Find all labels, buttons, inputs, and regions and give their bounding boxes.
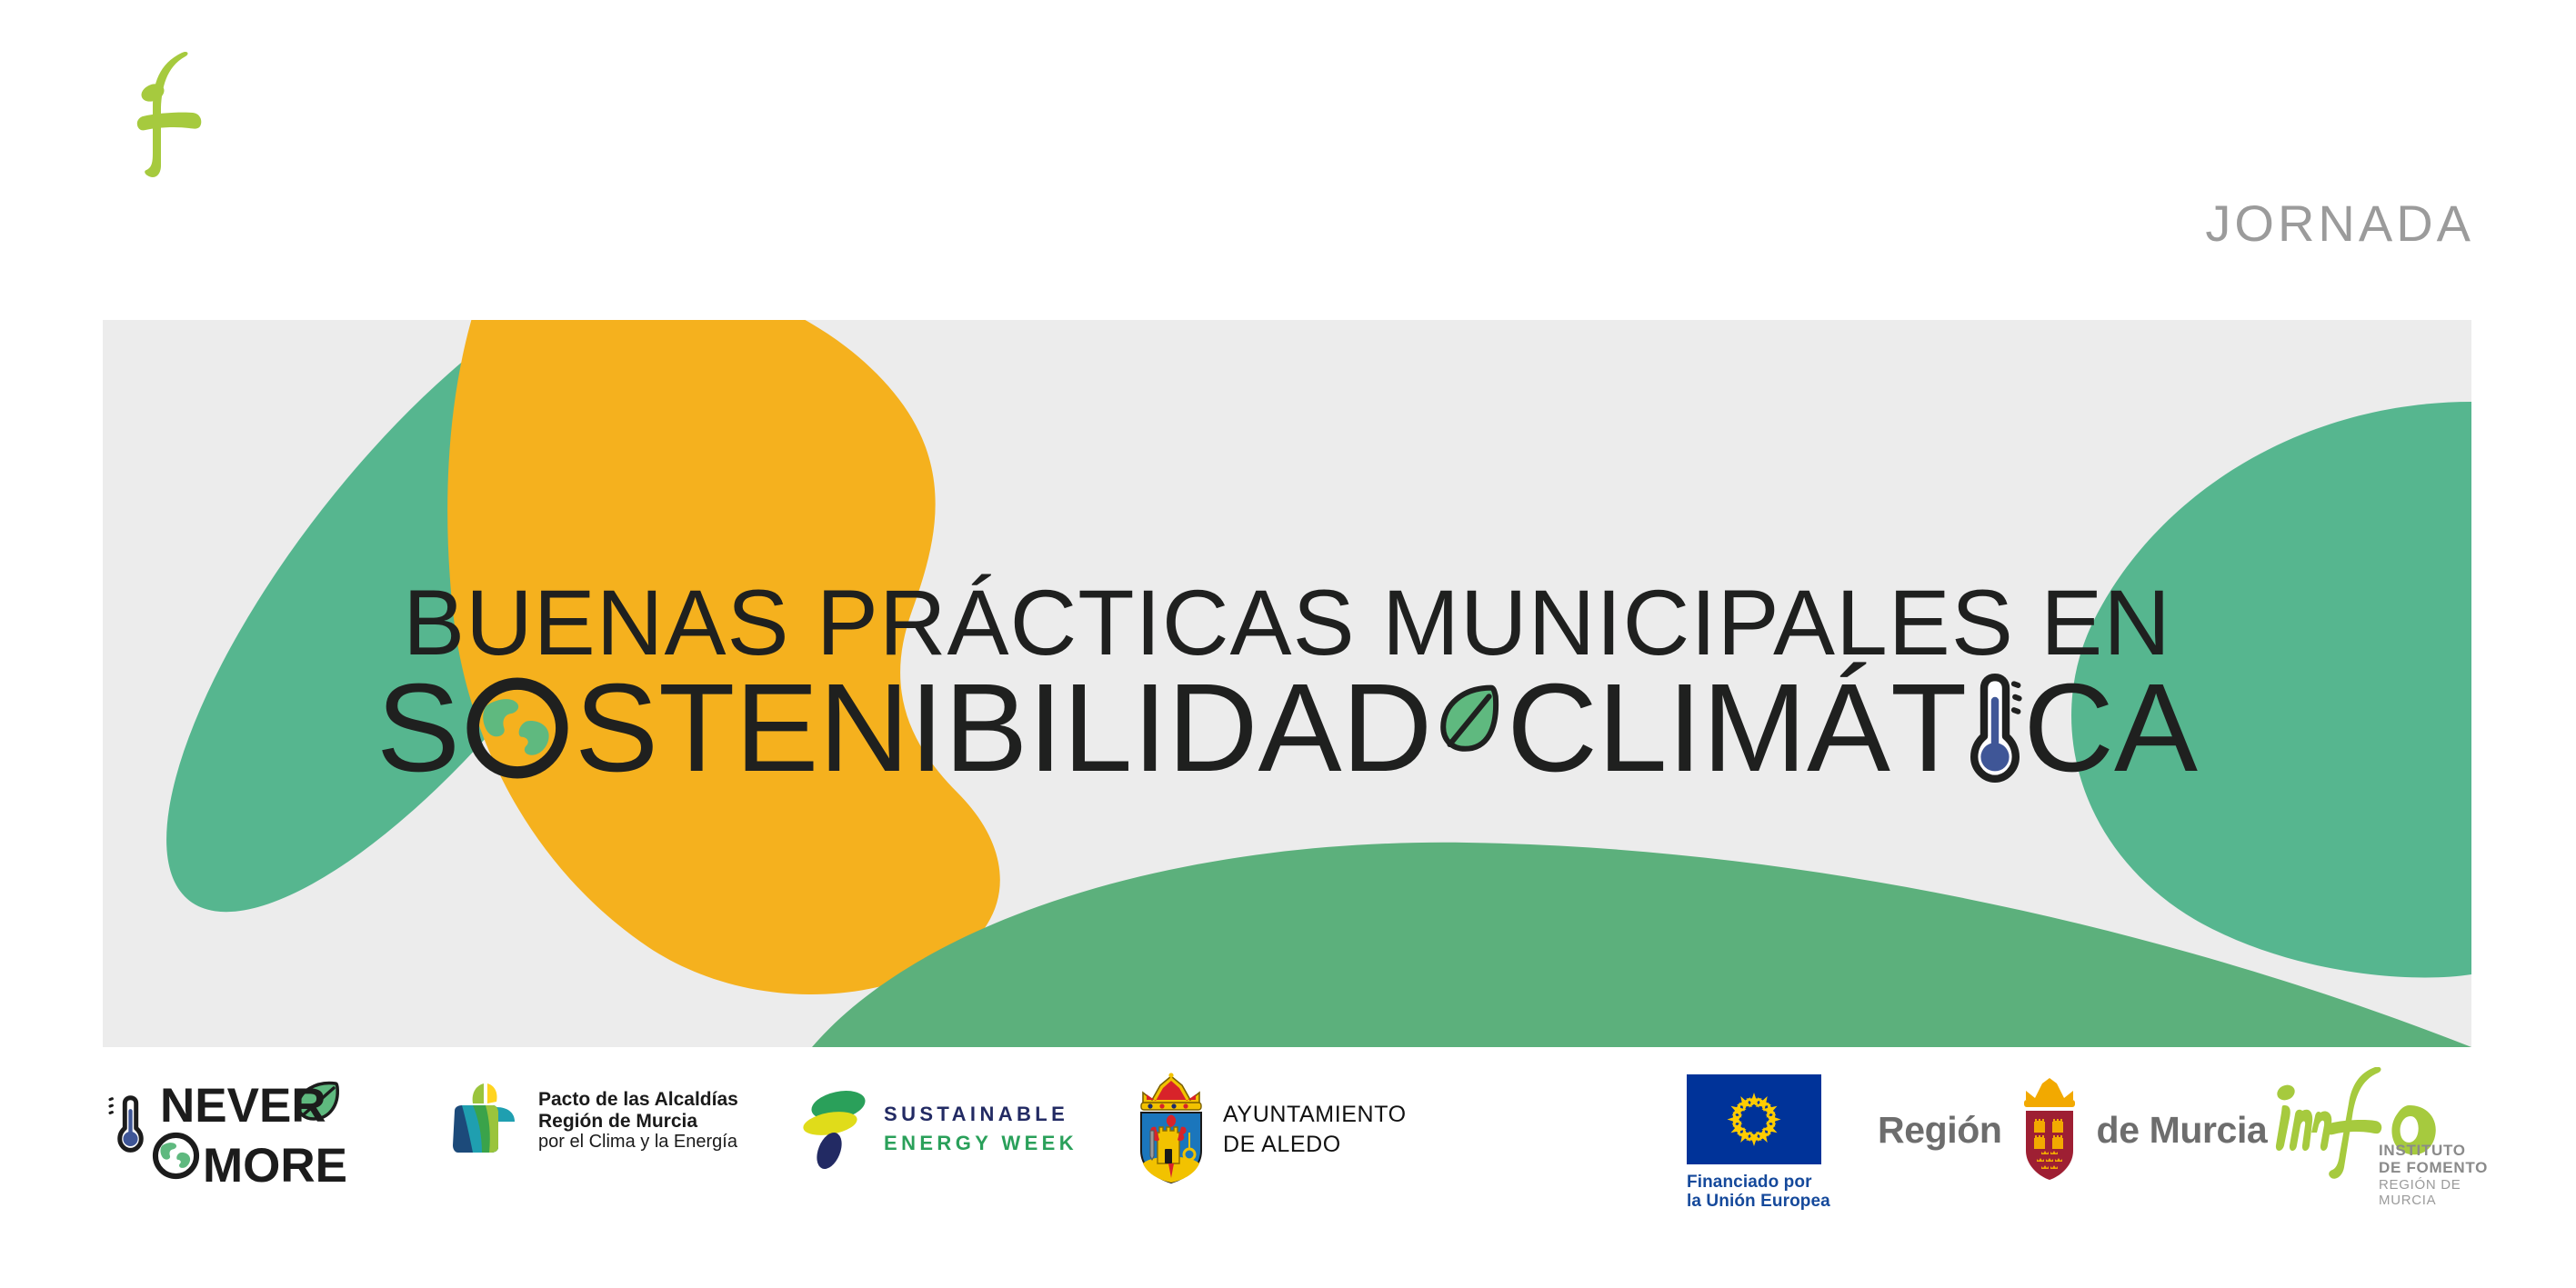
sew-line-1: SUSTAINABLE <box>884 1103 1078 1126</box>
murcia-text-left: Región <box>1878 1109 2002 1152</box>
globe-icon <box>460 673 575 784</box>
title-line2-part-4: CA <box>2023 664 2198 793</box>
info-line-1: INSTITUTO DE FOMENTO <box>2379 1142 2491 1176</box>
title-line2-part-1: S <box>376 664 460 793</box>
pacto-de-las-alcaldias-logo: Pacto de las Alcaldías Región de Murcia … <box>446 1080 738 1162</box>
sew-line-2: ENERGY WEEK <box>884 1133 1078 1155</box>
pacto-line-2: Región de Murcia <box>538 1111 738 1133</box>
info-line-2: REGIÓN DE MURCIA <box>2379 1178 2491 1209</box>
aledo-line-2: DE ALEDO <box>1223 1132 1407 1157</box>
hero-title-block: BUENAS PRÁCTICAS MUNICIPALES EN S STENIB… <box>103 320 2471 1047</box>
info-f-logo <box>98 47 253 179</box>
pacto-line-1: Pacto de las Alcaldías <box>538 1089 738 1111</box>
header: JORNADA <box>0 0 2576 320</box>
pacto-line-3: por el Clima y la Energía <box>538 1132 738 1152</box>
financiado-por-la-union-europea-logo: Financiado por la Unión Europea <box>1687 1074 1830 1212</box>
pacto-mark-icon <box>446 1080 527 1162</box>
nevermore-logo: NEVER MORE <box>107 1074 353 1202</box>
info-instituto-de-fomento-logo: INSTITUTO DE FOMENTO REGIÓN DE MURCIA <box>2264 1067 2491 1185</box>
murcia-shield-icon <box>2013 1076 2086 1183</box>
title-line2-part-2: STENIBILIDAD <box>575 664 1432 793</box>
nevermore-line-1: NEVER <box>160 1079 326 1133</box>
hero-panel: BUENAS PRÁCTICAS MUNICIPALES EN S STENIB… <box>103 320 2471 1047</box>
title-line-2: S STENIBILIDAD CLIMÁT <box>376 664 2198 793</box>
title-line-1: BUENAS PRÁCTICAS MUNICIPALES EN <box>403 575 2171 670</box>
aledo-line-1: AYUNTAMIENTO <box>1223 1102 1407 1127</box>
eu-flag-icon <box>1687 1074 1821 1164</box>
page-kicker: JORNADA <box>2205 198 2474 249</box>
sew-mark-icon <box>800 1087 873 1171</box>
eu-line-2: la Unión Europea <box>1687 1192 1830 1211</box>
ayuntamiento-de-aledo-logo: AYUNTAMIENTO DE ALEDO <box>1132 1073 1407 1185</box>
eu-line-1: Financiado por <box>1687 1173 1830 1192</box>
sustainable-energy-week-logo: SUSTAINABLE ENERGY WEEK <box>800 1087 1078 1171</box>
aledo-coat-of-arms-icon <box>1132 1073 1210 1185</box>
partner-logos-bar: NEVER MORE Pacto de las Alcaldías Región… <box>0 1056 2576 1288</box>
leaf-icon <box>1432 679 1507 777</box>
region-de-murcia-logo: Región de <box>1878 1076 2267 1183</box>
title-line2-part-3: CLIMÁT <box>1507 664 1967 793</box>
thermometer-icon <box>1967 671 2023 785</box>
murcia-text-right: de Murcia <box>2097 1109 2268 1152</box>
nevermore-line-2: MORE <box>203 1139 347 1193</box>
